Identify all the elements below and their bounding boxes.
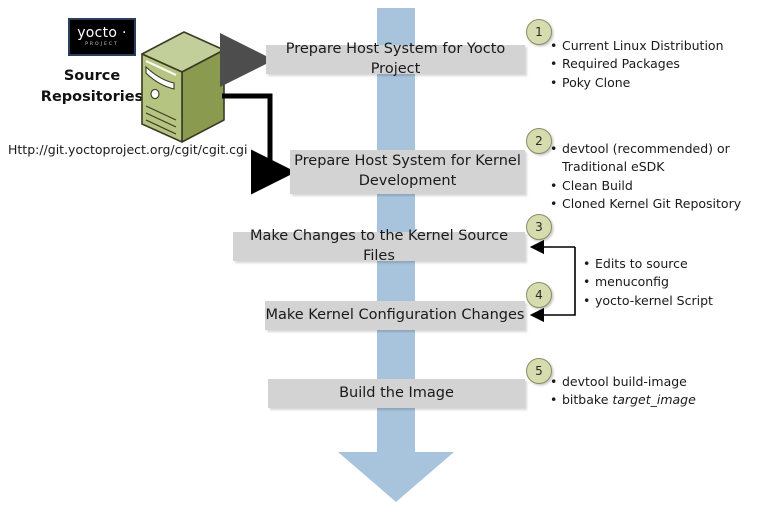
list-item: Edits to source [583,255,753,273]
flow-arrow-head [338,452,454,502]
step-number-3: 3 [526,214,552,240]
process-box-make-kernel-config-changes[interactable]: Make Kernel Configuration Changes [265,301,525,330]
list-item: Poky Clone [550,74,750,92]
list-item: devtool (recommended) or Traditional eSD… [550,140,760,177]
list-item: Current Linux Distribution [550,37,750,55]
list-item: bitbake target_image [550,391,750,409]
list-item: yocto-kernel Script [583,292,753,310]
server-icon [136,28,228,144]
step-number-1: 1 [526,19,552,45]
list-item: menuconfig [583,273,753,291]
step-number-5: 5 [526,358,552,384]
diagram-canvas: yocto · PROJECT Source Repositories Http… [0,0,769,517]
step-2-bullet-list: devtool (recommended) or Traditional eSD… [550,140,760,214]
list-item: Cloned Kernel Git Repository [550,195,760,213]
logo-subtitle: PROJECT [85,43,119,48]
yocto-project-logo: yocto · PROJECT [68,18,136,56]
process-box-prepare-host-kernel[interactable]: Prepare Host System for Kernel Developme… [290,150,525,194]
list-item-emphasis: target_image [612,392,695,407]
steps-3-4-bullet-list: Edits to source menuconfig yocto-kernel … [583,255,753,310]
process-box-make-kernel-source-changes[interactable]: Make Changes to the Kernel Source Files [233,232,525,261]
list-item: devtool build-image [550,373,750,391]
process-box-prepare-host-yocto[interactable]: Prepare Host System for Yocto Project [266,45,525,74]
list-item: Required Packages [550,55,750,73]
step-1-bullet-list: Current Linux Distribution Required Pack… [550,37,750,92]
list-item-text: bitbake [562,392,612,407]
step-number-4: 4 [526,282,552,308]
process-box-build-image[interactable]: Build the Image [268,379,525,408]
list-item: Clean Build [550,177,760,195]
step-number-2: 2 [526,128,552,154]
step-5-bullet-list: devtool build-image bitbake target_image [550,373,750,410]
source-repositories-label: Source Repositories [32,66,152,108]
logo-wordmark: yocto · [77,26,127,40]
source-repositories-url: Http://git.yoctoproject.org/cgit/cgit.cg… [8,142,247,157]
